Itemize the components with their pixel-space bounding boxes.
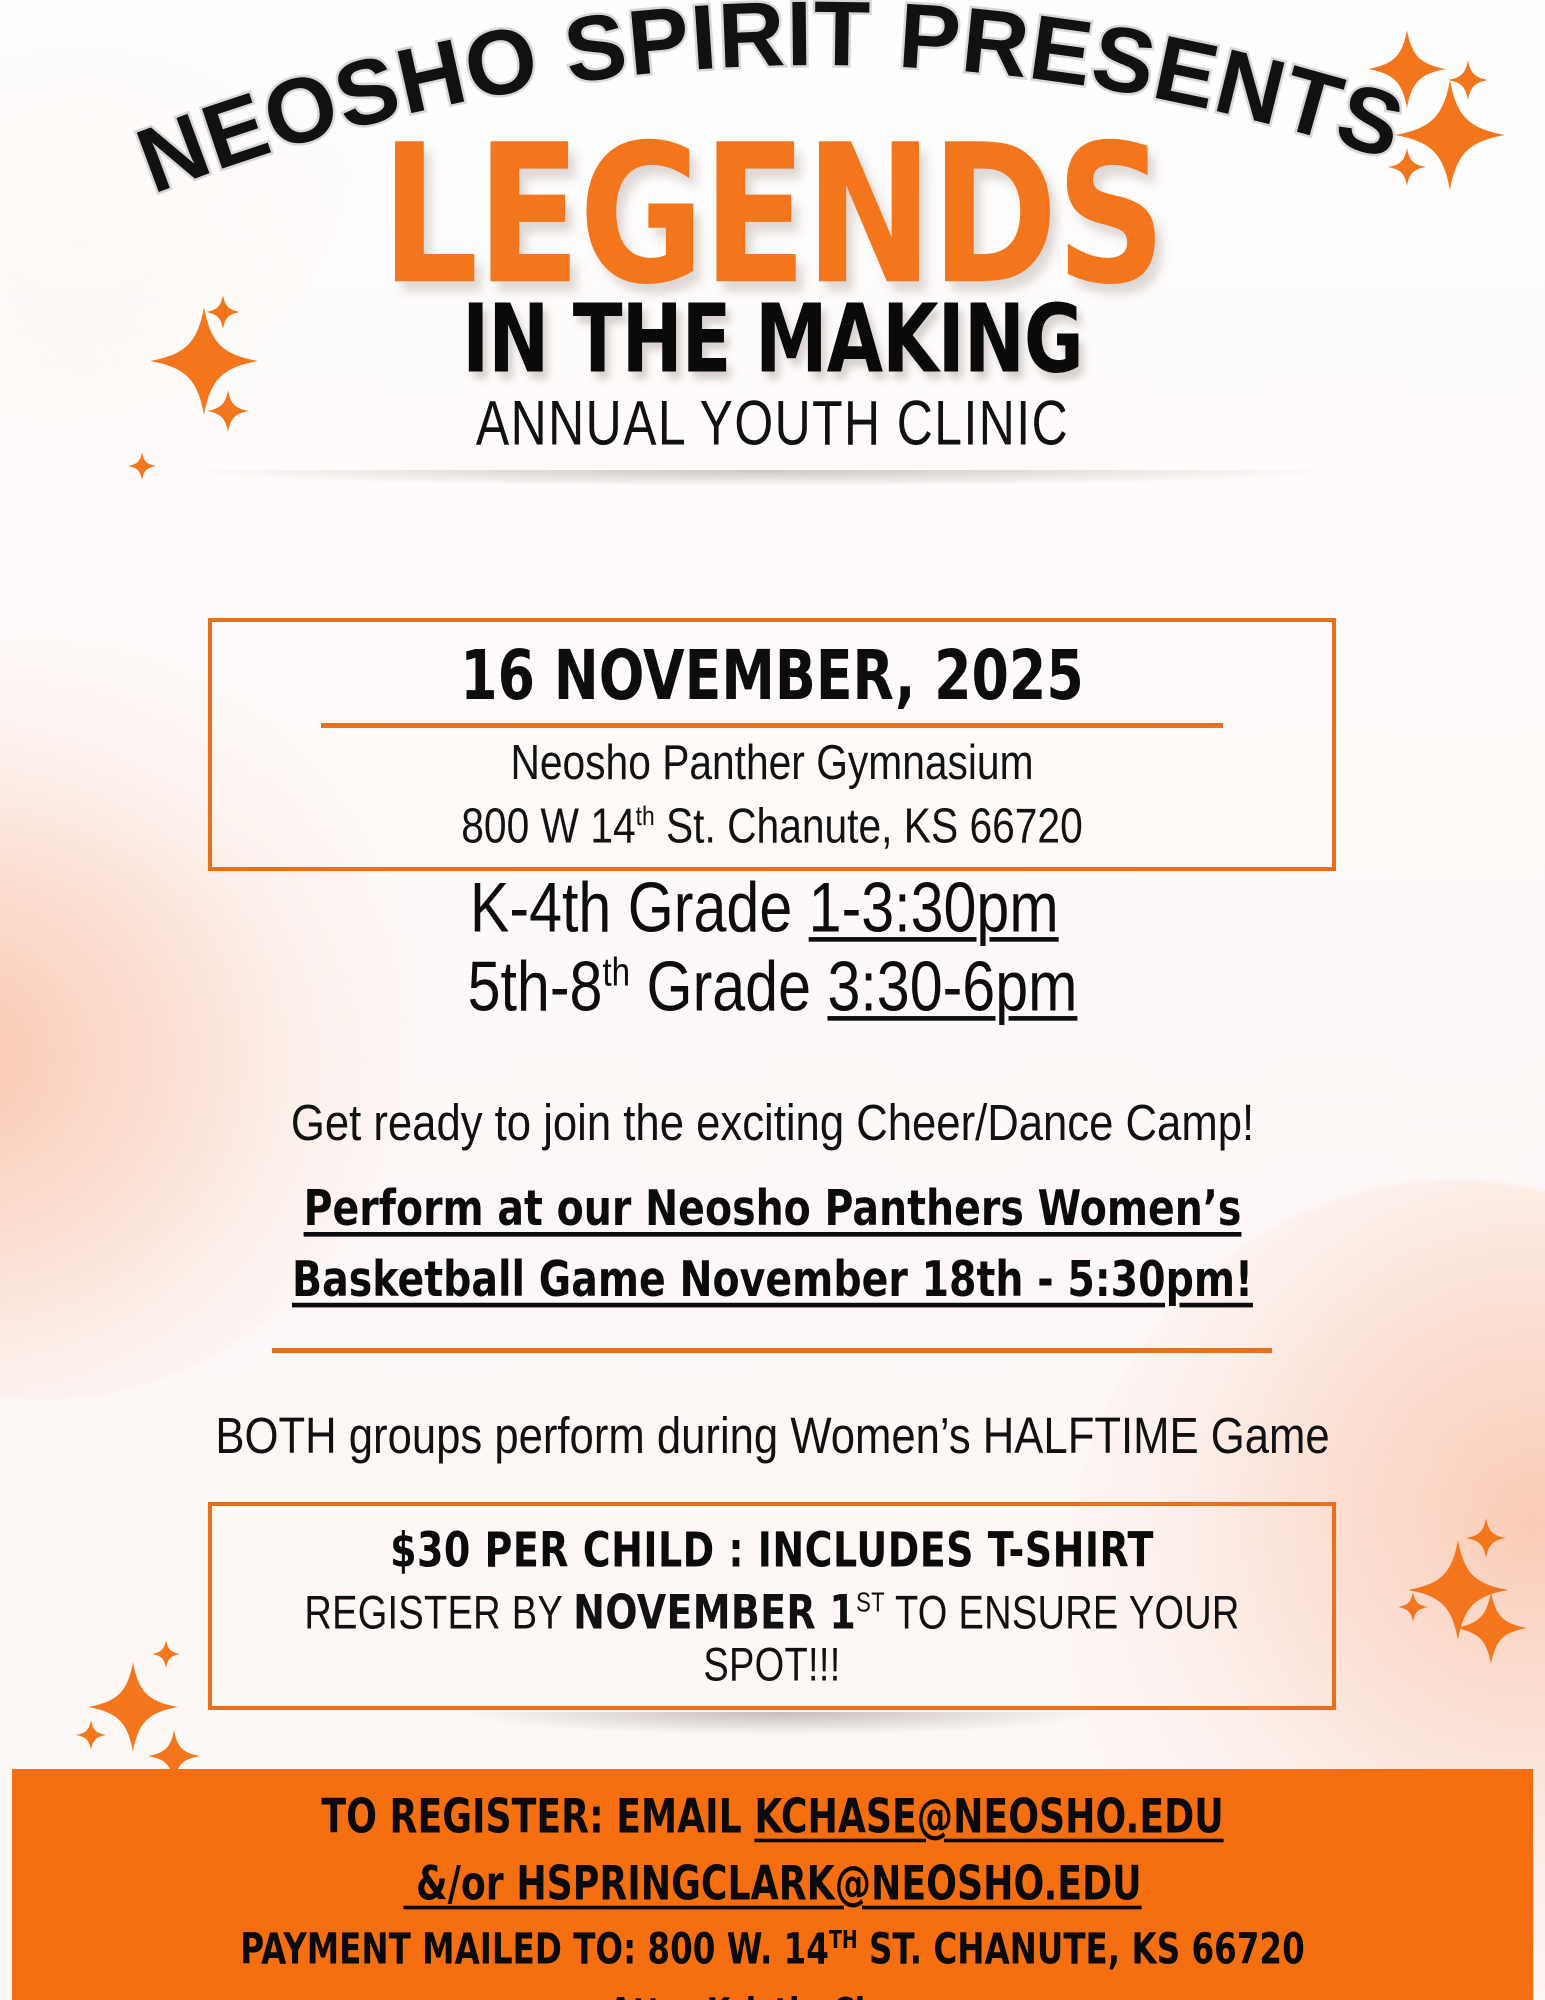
schedule-block: K-4th Grade 1-3:30pm 5th-8th Grade 3:30-… xyxy=(0,868,1545,1027)
wordmark-in-the-making: IN THE MAKING xyxy=(0,292,1545,387)
schedule-grade-rest: Grade xyxy=(630,947,827,1026)
section-divider xyxy=(272,1348,1272,1353)
footer-payment-suffix: ST. CHANUTE, KS 66720 xyxy=(858,1926,1305,1975)
schedule-grade: 5th-8 xyxy=(468,947,603,1026)
venue-address-number: 800 W 14 xyxy=(461,798,635,853)
deadline-ordinal: ST xyxy=(856,1587,885,1618)
wordmark-legends: LEGENDS xyxy=(0,120,1545,312)
sparkle-icon xyxy=(1455,1592,1527,1664)
registration-footer: TO REGISTER: EMAIL KCHASE@NEOSHO.EDU &/o… xyxy=(12,1769,1533,2000)
footer-payment-line: PAYMENT MAILED TO: 800 W. 14TH ST. CHANU… xyxy=(65,1923,1480,1979)
sparkle-icon xyxy=(88,1662,178,1752)
schedule-time: 1-3:30pm xyxy=(809,867,1059,946)
date-divider xyxy=(321,723,1222,728)
venue-address-rest: St. Chanute, KS 66720 xyxy=(655,798,1083,853)
sparkle-icon xyxy=(76,1720,106,1750)
venue-address-ordinal: th xyxy=(636,800,655,830)
pricing-box: $30 PER CHILD : INCLUDES T-SHIRT REGISTE… xyxy=(208,1502,1336,1710)
promo-perform: Perform at our Neosho Panthers Women’s B… xyxy=(216,1174,1330,1315)
footer-email-primary[interactable]: KCHASE@NEOSHO.EDU xyxy=(754,1790,1223,1845)
footer-attn-line: Attn: Kristin Chase xyxy=(65,1987,1480,2000)
promo-halftime: BOTH groups perform during Women’s HALFT… xyxy=(23,1405,1522,1467)
sparkle-icon xyxy=(1408,1540,1508,1640)
sparkle-icon xyxy=(128,452,156,480)
sparkle-icon xyxy=(1466,1518,1506,1558)
event-date: 16 NOVEMBER, 2025 xyxy=(269,642,1275,714)
promo-perform-line1: Perform at our Neosho Panthers Women’s xyxy=(216,1174,1330,1245)
footer-payment-ordinal: TH xyxy=(829,1925,858,1954)
schedule-grade: K-4th Grade xyxy=(470,867,809,946)
promo-perform-line2: Basketball Game November 18th - 5:30pm! xyxy=(216,1245,1330,1316)
page-subtitle: ANNUAL YOUTH CLINIC xyxy=(31,392,1514,455)
schedule-row: 5th-8th Grade 3:30-6pm xyxy=(23,941,1522,1033)
promo-intro: Get ready to join the exciting Cheer/Dan… xyxy=(23,1092,1522,1154)
deadline-date: NOVEMBER 1 xyxy=(573,1586,856,1640)
sparkle-icon xyxy=(1398,1592,1428,1622)
schedule-grade-ordinal: th xyxy=(602,951,630,995)
pricing-price: $30 PER CHILD : INCLUDES T-SHIRT xyxy=(240,1525,1304,1578)
venue-name: Neosho Panther Gymnasium xyxy=(264,731,1281,794)
schedule-time: 3:30-6pm xyxy=(827,947,1077,1026)
pricing-box-shadow xyxy=(470,1712,1090,1734)
footer-payment-prefix: PAYMENT MAILED TO: 800 W. 14 xyxy=(240,1926,829,1975)
deadline-prefix: REGISTER BY xyxy=(304,1587,573,1639)
footer-register-prefix: TO REGISTER: EMAIL xyxy=(321,1790,754,1845)
event-details-box: 16 NOVEMBER, 2025 Neosho Panther Gymnasi… xyxy=(208,618,1336,871)
venue-address: 800 W 14th St. Chanute, KS 66720 xyxy=(264,794,1281,857)
pricing-deadline: REGISTER BY NOVEMBER 1ST TO ENSURE YOUR … xyxy=(240,1587,1304,1691)
subtitle-shadow xyxy=(190,470,1330,486)
sparkle-icon xyxy=(152,1640,180,1668)
footer-register-line: TO REGISTER: EMAIL KCHASE@NEOSHO.EDU xyxy=(65,1787,1480,1849)
flyer-page: NEOSHO SPIRIT PRESENTS LEGENDS IN THE MA… xyxy=(0,0,1545,2000)
footer-email-secondary[interactable]: &/or HSPRINGCLARK@NEOSHO.EDU xyxy=(403,1857,1141,1912)
footer-email-secondary-line: &/or HSPRINGCLARK@NEOSHO.EDU xyxy=(65,1854,1480,1916)
venue-block: Neosho Panther Gymnasium 800 W 14th St. … xyxy=(264,731,1281,858)
